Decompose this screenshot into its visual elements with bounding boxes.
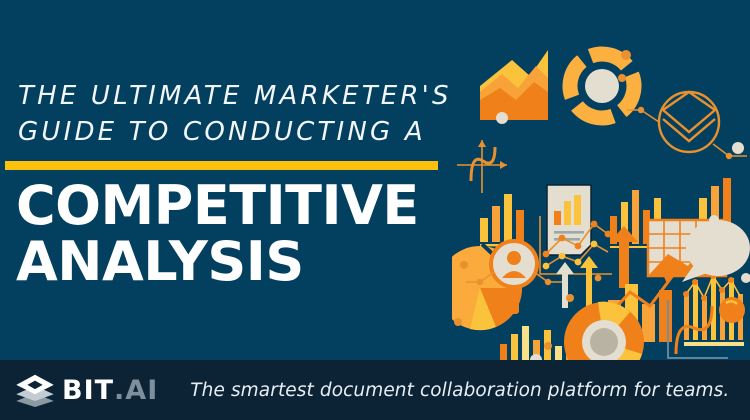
bit-layers-logo-icon	[14, 373, 56, 407]
footer-bar: BIT.AI The smartest document collaborati…	[0, 360, 750, 420]
hero-kicker: THE ULTIMATE MARKETER'S GUIDE TO CONDUCT…	[18, 78, 448, 150]
donut-chart-icon	[561, 45, 643, 127]
pie-outline-chart-icon	[627, 92, 747, 159]
headline-line-1: COMPETITIVE	[16, 178, 456, 234]
brand-wordmark: BIT.AI	[62, 375, 158, 406]
brand-word-ai: .AI	[114, 375, 158, 406]
document-report-icon	[547, 185, 591, 255]
footer-tagline: The smartest document collaboration plat…	[190, 380, 729, 401]
kicker-line-2: GUIDE TO CONDUCTING A	[18, 114, 448, 150]
circle-dot-icon	[719, 297, 745, 323]
page-title: COMPETITIVE ANALYSIS	[16, 178, 456, 290]
infographic-banner: THE ULTIMATE MARKETER'S GUIDE TO CONDUCT…	[0, 0, 750, 420]
headline-line-2: ANALYSIS	[16, 234, 456, 290]
yellow-divider-bar	[5, 161, 438, 170]
bar-chart-icon	[480, 194, 526, 246]
analytics-icon-collage	[452, 30, 750, 360]
axis-curve-icon	[457, 140, 507, 193]
kicker-line-1: THE ULTIMATE MARKETER'S	[18, 78, 448, 114]
area-chart-icon	[480, 50, 548, 120]
brand-logo[interactable]: BIT.AI	[14, 373, 158, 407]
brand-word-bit: BIT	[62, 375, 114, 406]
